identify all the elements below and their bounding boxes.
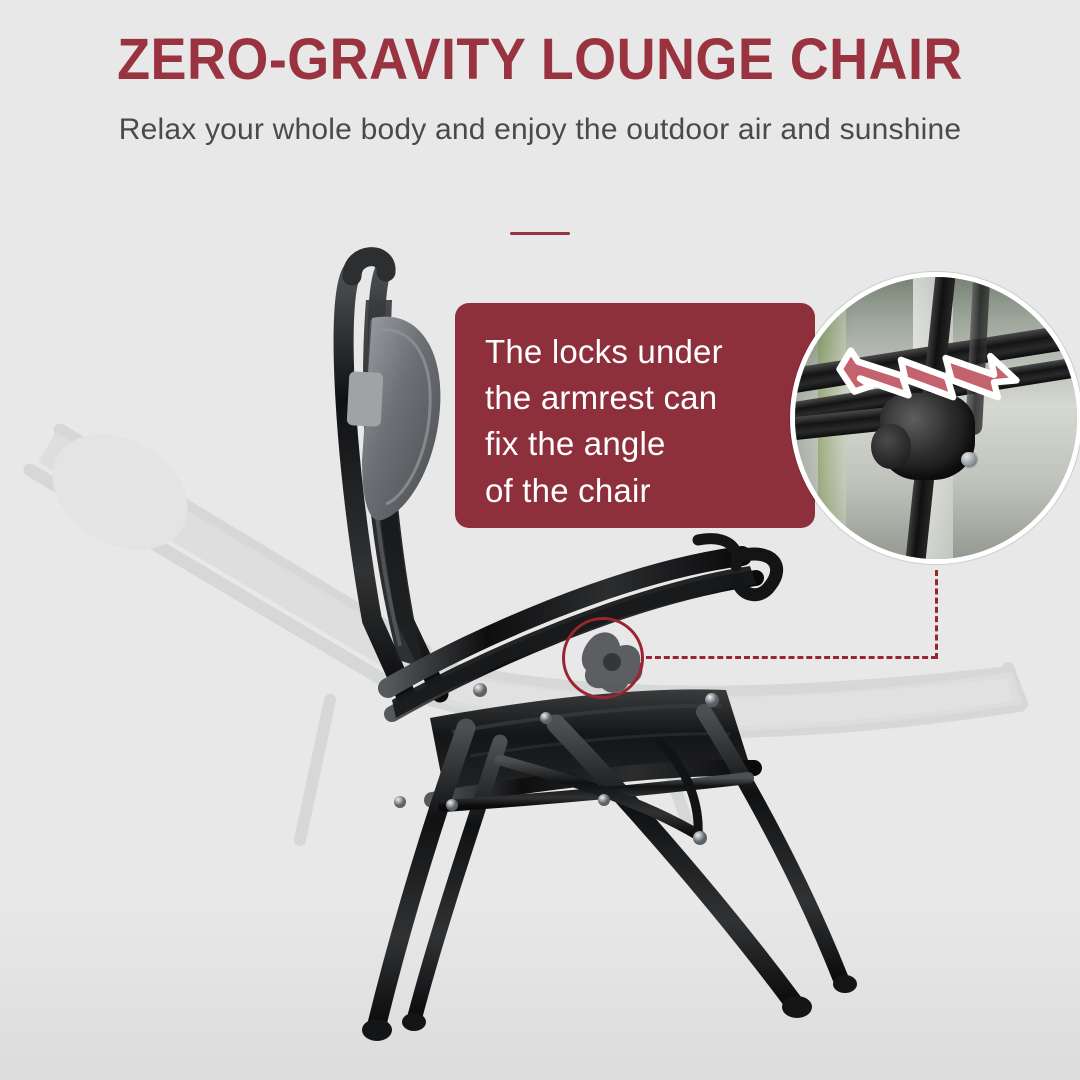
- header-divider: [510, 232, 570, 235]
- feature-callout-text: The locks under the armrest can fix the …: [485, 329, 785, 514]
- magnifier-lock-knob-lobe: [871, 424, 910, 469]
- zigzag-arrow-icon: [834, 339, 1020, 424]
- lock-highlight-circle: [562, 617, 644, 699]
- magnifier-screw: [961, 452, 977, 468]
- magnifier-photo: [795, 277, 1077, 559]
- connector-line-vertical: [935, 570, 938, 659]
- feature-callout-box: The locks under the armrest can fix the …: [455, 303, 815, 528]
- header: ZERO-GRAVITY LOUNGE CHAIR Relax your who…: [0, 0, 1080, 151]
- page-subtitle: Relax your whole body and enjoy the outd…: [0, 109, 1080, 152]
- detail-magnifier-circle: [790, 272, 1080, 564]
- connector-line-horizontal: [646, 656, 937, 659]
- product-infographic: ZERO-GRAVITY LOUNGE CHAIR Relax your who…: [0, 0, 1080, 1080]
- page-title: ZERO-GRAVITY LOUNGE CHAIR: [38, 30, 1042, 91]
